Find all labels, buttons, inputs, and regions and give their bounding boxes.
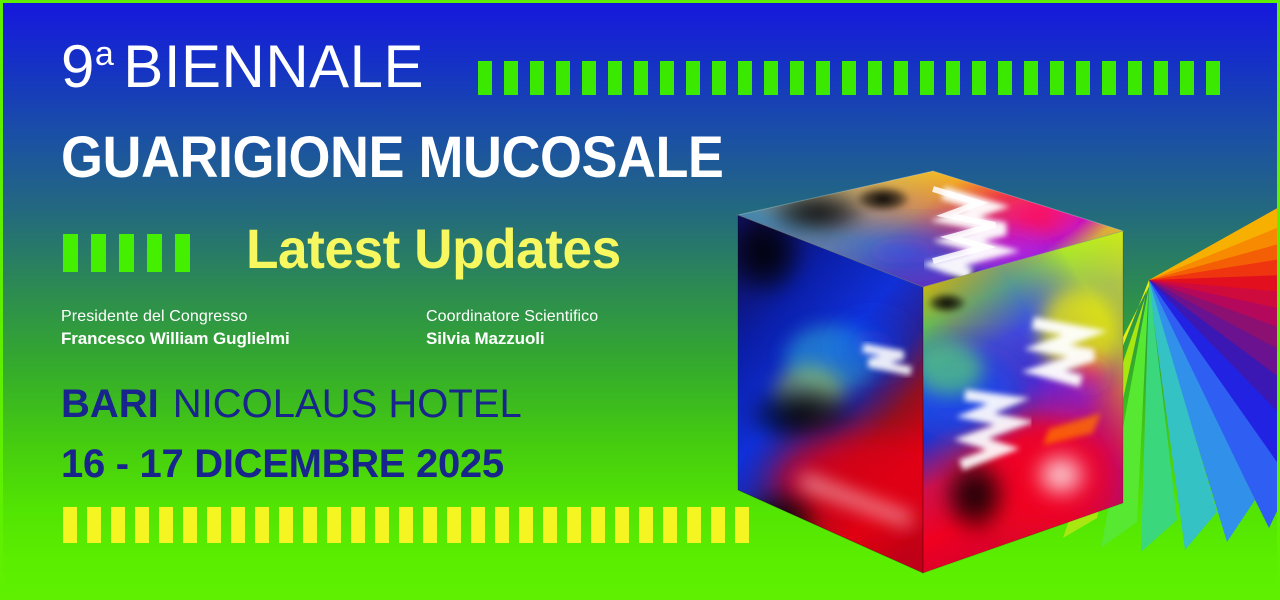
dash-mark — [175, 234, 190, 272]
venue-name: NICOLAUS HOTEL — [173, 382, 522, 426]
dash-mark — [790, 61, 804, 95]
credit-name: Silvia Mazzuoli — [426, 328, 598, 350]
dash-mark — [591, 507, 605, 543]
dash-mark — [1128, 61, 1142, 95]
dash-mark — [687, 507, 701, 543]
dash-mark — [119, 234, 134, 272]
dash-mark — [920, 61, 934, 95]
dash-mark — [519, 507, 533, 543]
dash-mark — [567, 507, 581, 543]
dash-mark — [634, 61, 648, 95]
dash-mark — [686, 61, 700, 95]
dash-mark — [303, 507, 317, 543]
dash-mark — [556, 61, 570, 95]
dash-mark — [639, 507, 653, 543]
banner-canvas: 9aBIENNALE GUARIGIONE MUCOSALE Latest Up… — [3, 3, 1277, 597]
credit-role: Coordinatore Scientifico — [426, 306, 598, 328]
dash-mark — [1102, 61, 1116, 95]
dash-mark — [764, 61, 778, 95]
dash-mark — [1076, 61, 1090, 95]
dash-row-middle — [63, 234, 203, 272]
dash-mark — [1206, 61, 1220, 95]
dash-mark — [63, 234, 78, 272]
dash-mark — [663, 507, 677, 543]
dash-mark — [91, 234, 106, 272]
dash-mark — [712, 61, 726, 95]
dash-mark — [816, 61, 830, 95]
fan-blade-group — [1029, 160, 1277, 552]
dash-mark — [1050, 61, 1064, 95]
edition-word: BIENNALE — [123, 33, 424, 100]
dash-mark — [615, 507, 629, 543]
dash-mark — [478, 61, 492, 95]
dash-mark — [738, 61, 752, 95]
edition-title: 9aBIENNALE — [61, 37, 424, 97]
dash-mark — [972, 61, 986, 95]
dash-mark — [543, 507, 557, 543]
dash-mark — [582, 61, 596, 95]
cube — [725, 171, 1123, 573]
congress-banner: 9aBIENNALE GUARIGIONE MUCOSALE Latest Up… — [0, 0, 1280, 600]
dash-mark — [63, 507, 77, 543]
dash-mark — [399, 507, 413, 543]
dash-mark — [998, 61, 1012, 95]
page-subtitle: Latest Updates — [246, 221, 621, 277]
credit-role: Presidente del Congresso — [61, 306, 290, 328]
dash-mark — [375, 507, 389, 543]
dash-mark — [608, 61, 622, 95]
dash-mark — [207, 507, 221, 543]
dash-mark — [894, 61, 908, 95]
dash-mark — [1024, 61, 1038, 95]
dash-mark — [231, 507, 245, 543]
dash-mark — [530, 61, 544, 95]
dash-mark — [327, 507, 341, 543]
venue-line: BARINICOLAUS HOTEL — [61, 384, 522, 424]
dash-mark — [842, 61, 856, 95]
dash-mark — [1154, 61, 1168, 95]
dash-mark — [868, 61, 882, 95]
edition-ordinal: a — [95, 35, 114, 73]
dash-mark — [471, 507, 485, 543]
dash-mark — [147, 234, 162, 272]
dash-mark — [495, 507, 509, 543]
edition-number: 9 — [61, 33, 95, 100]
colour-fan — [1029, 160, 1277, 552]
dash-mark — [351, 507, 365, 543]
dash-mark — [135, 507, 149, 543]
dash-mark — [423, 507, 437, 543]
dash-mark — [660, 61, 674, 95]
dash-mark — [504, 61, 518, 95]
dash-mark — [711, 507, 725, 543]
dash-mark — [111, 507, 125, 543]
dash-mark — [183, 507, 197, 543]
dash-mark — [1180, 61, 1194, 95]
venue-city: BARI — [61, 382, 159, 426]
dash-row-bottom — [63, 507, 759, 543]
event-dates: 16 - 17 DICEMBRE 2025 — [61, 444, 504, 484]
dash-mark — [87, 507, 101, 543]
credit-scientific-coordinator: Coordinatore Scientifico Silvia Mazzuoli — [426, 306, 598, 350]
credit-president: Presidente del Congresso Francesco Willi… — [61, 306, 290, 350]
dash-mark — [255, 507, 269, 543]
dash-row-top — [478, 61, 1232, 95]
dash-mark — [279, 507, 293, 543]
dash-mark — [946, 61, 960, 95]
dash-mark — [159, 507, 173, 543]
dash-mark — [735, 507, 749, 543]
dash-mark — [447, 507, 461, 543]
credit-name: Francesco William Guglielmi — [61, 328, 290, 350]
page-title: GUARIGIONE MUCOSALE — [61, 129, 723, 187]
